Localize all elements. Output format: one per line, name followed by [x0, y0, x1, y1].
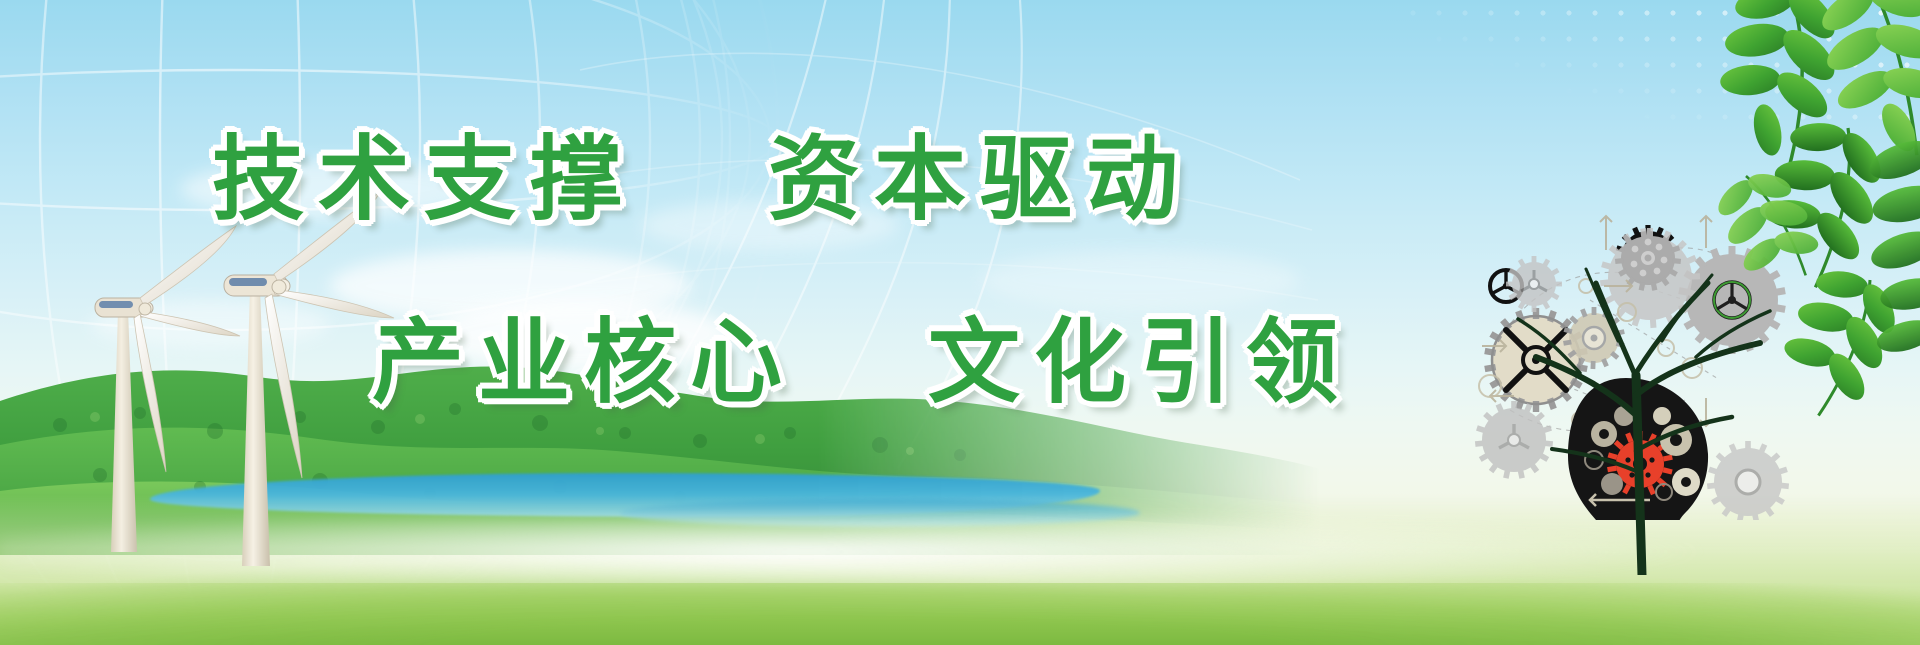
headline-line-1: 技术支撑 资本驱动 [212, 105, 1192, 238]
headline-line-2: 产业核心 文化引领 [372, 288, 1352, 421]
headline-line1-part1: 技术支撑 [212, 129, 636, 231]
headline-line1-part2: 资本驱动 [768, 129, 1192, 231]
eco-technology-banner: 技术支撑 资本驱动 产业核心 文化引领 [0, 0, 1920, 645]
headline-line2-part2: 文化引领 [928, 312, 1352, 414]
grass-band [0, 583, 1920, 645]
leafy-tree-icon [1450, 0, 1920, 580]
headline-line2-part1: 产业核心 [372, 312, 796, 414]
